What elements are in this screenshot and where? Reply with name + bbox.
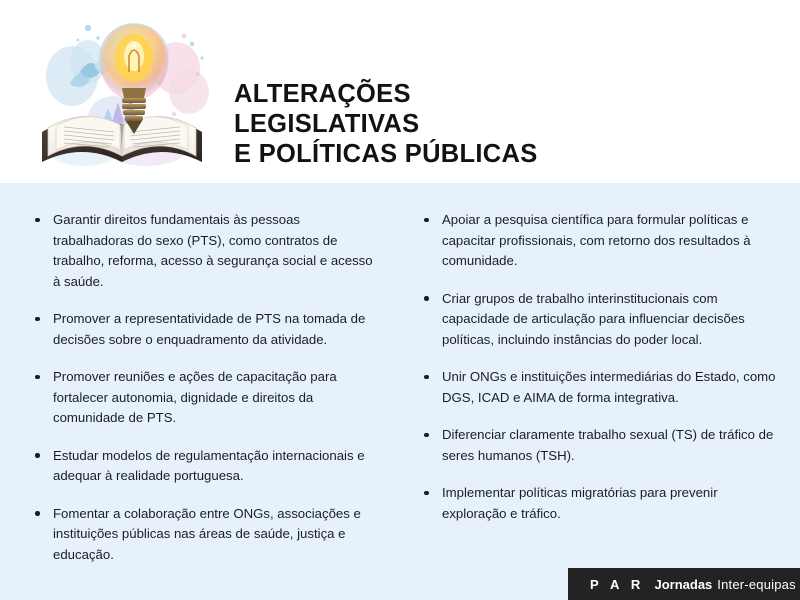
bullet-icon <box>424 433 429 438</box>
list-item: Unir ONGs e instituições intermediárias … <box>422 367 782 408</box>
content-panel: Garantir direitos fundamentais às pessoa… <box>0 183 800 600</box>
title-line-1: ALTERAÇÕES <box>234 79 774 109</box>
brand-logo-text: P A R <box>590 577 644 592</box>
open-book-with-lightbulb-illustration <box>26 10 222 178</box>
bullet-icon <box>35 375 40 380</box>
list-item-text: Promover a representatividade de PTS na … <box>53 311 365 347</box>
list-item-text: Garantir direitos fundamentais às pessoa… <box>53 212 373 289</box>
content-columns: Garantir direitos fundamentais às pessoa… <box>0 183 800 565</box>
footer-brand-badge: P A R Jornadas Inter-equipas <box>568 568 800 600</box>
list-item: Apoiar a pesquisa científica para formul… <box>422 210 782 272</box>
list-item-text: Criar grupos de trabalho interinstitucio… <box>442 291 745 347</box>
list-item-text: Estudar modelos de regulamentação intern… <box>53 448 365 484</box>
bullet-icon <box>424 296 429 301</box>
title-line-3: E POLÍTICAS PÚBLICAS <box>234 139 774 169</box>
left-bullet-list: Garantir direitos fundamentais às pessoa… <box>33 210 378 565</box>
list-item: Garantir direitos fundamentais às pessoa… <box>33 210 378 292</box>
bullet-icon <box>424 491 429 496</box>
bullet-icon <box>35 453 40 458</box>
list-item-text: Promover reuniões e ações de capacitação… <box>53 369 337 425</box>
right-bullet-list: Apoiar a pesquisa científica para formul… <box>422 210 782 524</box>
list-item-text: Diferenciar claramente trabalho sexual (… <box>442 427 773 463</box>
title-line-2: LEGISLATIVAS <box>234 109 774 139</box>
list-item-text: Fomentar a colaboração entre ONGs, assoc… <box>53 506 361 562</box>
bullet-icon <box>35 317 40 322</box>
left-column: Garantir direitos fundamentais às pessoa… <box>0 183 400 565</box>
list-item: Promover reuniões e ações de capacitação… <box>33 367 378 429</box>
bullet-icon <box>424 218 429 223</box>
list-item: Fomentar a colaboração entre ONGs, assoc… <box>33 504 378 566</box>
bullet-icon <box>424 375 429 380</box>
list-item: Criar grupos de trabalho interinstitucio… <box>422 289 782 351</box>
right-column: Apoiar a pesquisa científica para formul… <box>400 183 800 565</box>
page-title: ALTERAÇÕES LEGISLATIVAS E POLÍTICAS PÚBL… <box>234 79 774 169</box>
bullet-icon <box>35 218 40 223</box>
list-item: Implementar políticas migratórias para p… <box>422 483 782 524</box>
list-item-text: Apoiar a pesquisa científica para formul… <box>442 212 751 268</box>
list-item: Promover a representatividade de PTS na … <box>33 309 378 350</box>
bullet-icon <box>35 511 40 516</box>
event-name: Jornadas <box>654 577 712 592</box>
list-item: Estudar modelos de regulamentação intern… <box>33 446 378 487</box>
list-item: Diferenciar claramente trabalho sexual (… <box>422 425 782 466</box>
slide: ALTERAÇÕES LEGISLATIVAS E POLÍTICAS PÚBL… <box>0 0 800 600</box>
list-item-text: Unir ONGs e instituições intermediárias … <box>442 369 776 405</box>
header: ALTERAÇÕES LEGISLATIVAS E POLÍTICAS PÚBL… <box>0 0 800 183</box>
list-item-text: Implementar políticas migratórias para p… <box>442 485 718 521</box>
event-subtitle: Inter-equipas <box>717 577 795 592</box>
